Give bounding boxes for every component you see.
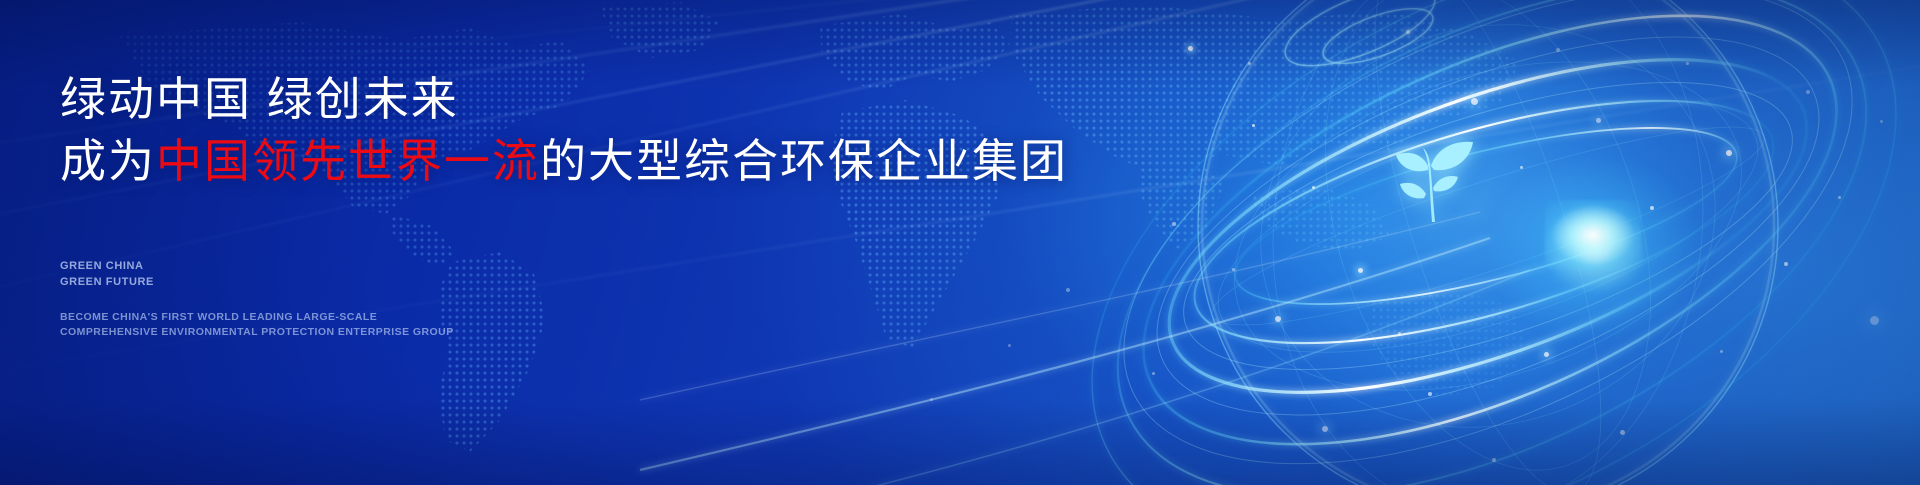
slogan-english-line-1: GREEN CHINA (60, 259, 154, 275)
hero-banner: 绿动中国 绿创未来 成为中国领先世界一流的大型综合环保企业集团 GREEN CH… (0, 0, 1920, 485)
headline-line-2: 成为中国领先世界一流的大型综合环保企业集团 (60, 134, 1068, 188)
slogan-english-line-2: GREEN FUTURE (60, 275, 154, 291)
tagline-english-line-2: COMPREHENSIVE ENVIRONMENTAL PROTECTION E… (60, 325, 454, 340)
headline-block: 绿动中国 绿创未来 成为中国领先世界一流的大型综合环保企业集团 (60, 72, 1068, 189)
headline-line-1: 绿动中国 绿创未来 (60, 72, 1068, 126)
globe-core-flare (1545, 200, 1641, 270)
headline-line-2-highlight: 中国领先世界一流 (156, 135, 540, 187)
tagline-english-line-1: BECOME CHINA'S FIRST WORLD LEADING LARGE… (60, 310, 454, 325)
sprout-leaf-icon (1378, 126, 1482, 226)
tagline-english: BECOME CHINA'S FIRST WORLD LEADING LARGE… (60, 310, 454, 340)
headline-line-2-prefix: 成为 (60, 135, 156, 187)
headline-line-2-suffix: 的大型综合环保企业集团 (540, 135, 1068, 187)
slogan-english: GREEN CHINA GREEN FUTURE (60, 259, 154, 290)
